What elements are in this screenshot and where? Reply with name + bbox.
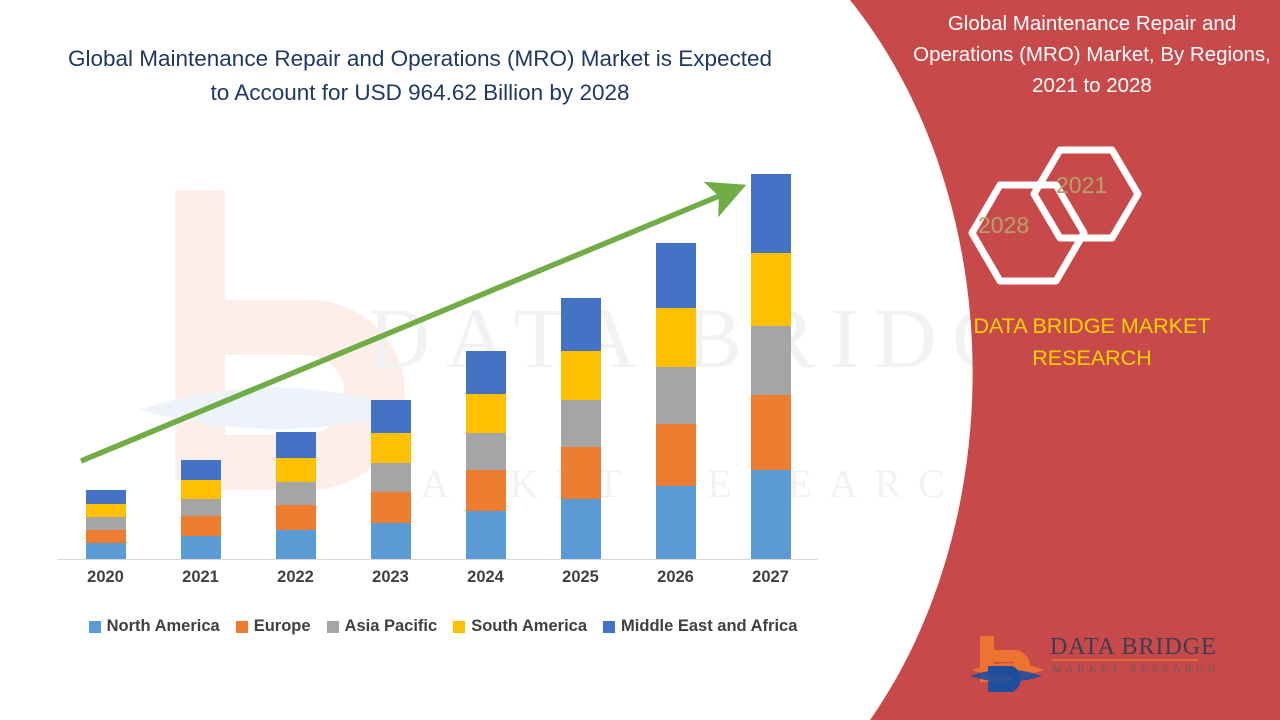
bar-segment [371,400,411,433]
bar-segment [276,432,316,458]
infographic-page: DATA BRIDGE MARKET RESEARCH Global Maint… [0,0,1280,720]
bar-stack-2027 [751,174,791,559]
hexagon-badge-label-2028: 2028 [978,212,1029,239]
legend-swatch-icon [236,621,248,633]
panel-title: Global Maintenance Repair and Operations… [910,8,1274,101]
logo-secondary-text: MARKET RESEARCH [1052,664,1220,675]
red-panel-content: Global Maintenance Repair and Operations… [900,0,1280,720]
bar-segment [751,326,791,395]
bar-segment [561,351,601,400]
brand-name: DATA BRIDGE MARKET RESEARCH [920,310,1264,374]
bar-stack-2022 [276,432,316,559]
bar-segment [181,460,221,480]
bar-segment [561,499,601,559]
bar-segment [561,400,601,447]
legend-swatch-icon [327,621,339,633]
legend-item[interactable]: Europe [236,617,311,636]
bar-segment [466,511,506,559]
bar-segment [371,492,411,523]
bar-segment [276,505,316,530]
bar-segment [276,482,316,505]
x-axis-line [58,559,818,560]
bar-segment [656,367,696,424]
bar-segment [276,458,316,482]
bar-chart-plot [58,150,818,560]
bar-segment [371,433,411,463]
legend-swatch-icon [603,621,615,633]
logo-primary-text: DATA BRIDGE [1050,634,1217,661]
bar-segment [371,523,411,559]
bar-segment [86,543,126,559]
bar-segment [656,424,696,486]
legend-label: Asia Pacific [345,617,438,636]
bar-segment [86,490,126,504]
hexagon-badge-label-2021: 2021 [1056,172,1107,199]
bar-segment [86,517,126,529]
bar-segment [181,536,221,559]
chart-panel: Global Maintenance Repair and Operations… [0,0,860,720]
legend-item[interactable]: Asia Pacific [327,617,438,636]
bar-segment [561,298,601,351]
legend-swatch-icon [453,621,465,633]
legend-label: Middle East and Africa [621,617,797,636]
x-axis-tick-2021: 2021 [171,568,231,587]
bar-segment [466,351,506,394]
bar-segment [561,447,601,498]
bar-segment [751,395,791,470]
bar-segment [371,463,411,491]
x-axis-tick-2024: 2024 [456,568,516,587]
x-axis-tick-2020: 2020 [76,568,136,587]
chart-legend: North AmericaEuropeAsia PacificSouth Ame… [58,617,828,636]
bar-segment [276,530,316,559]
bar-segment [656,243,696,308]
legend-label: North America [107,617,220,636]
bar-stack-2023 [371,400,411,559]
x-axis-tick-2026: 2026 [646,568,706,587]
bar-segment [181,480,221,499]
legend-item[interactable]: Middle East and Africa [603,617,797,636]
bar-segment [751,174,791,253]
bar-stack-2020 [86,490,126,559]
x-axis-tick-2025: 2025 [551,568,611,587]
x-axis-tick-2027: 2027 [741,568,801,587]
bar-segment [466,470,506,511]
bar-segment [86,504,126,517]
legend-item[interactable]: South America [453,617,587,636]
bar-segment [466,394,506,433]
company-logo: DATA BRIDGE MARKET RESEARCH [968,632,1208,694]
bar-segment [751,253,791,326]
x-axis-tick-2023: 2023 [361,568,421,587]
bar-segment [86,530,126,543]
bar-segment [751,470,791,559]
bar-segment [656,308,696,367]
x-axis-tick-2022: 2022 [266,568,326,587]
bar-segment [466,433,506,470]
bar-stack-2021 [181,460,221,559]
bar-stack-2025 [561,298,601,559]
legend-swatch-icon [89,621,101,633]
legend-item[interactable]: North America [89,617,220,636]
legend-label: Europe [254,617,311,636]
bar-segment [181,516,221,536]
bar-segment [656,486,696,559]
legend-label: South America [471,617,587,636]
x-axis-labels: 20202021202220232024202520262027 [58,568,818,594]
bar-stack-2024 [466,351,506,559]
chart-title: Global Maintenance Repair and Operations… [60,42,780,110]
bar-stack-2026 [656,243,696,559]
bar-segment [181,499,221,517]
